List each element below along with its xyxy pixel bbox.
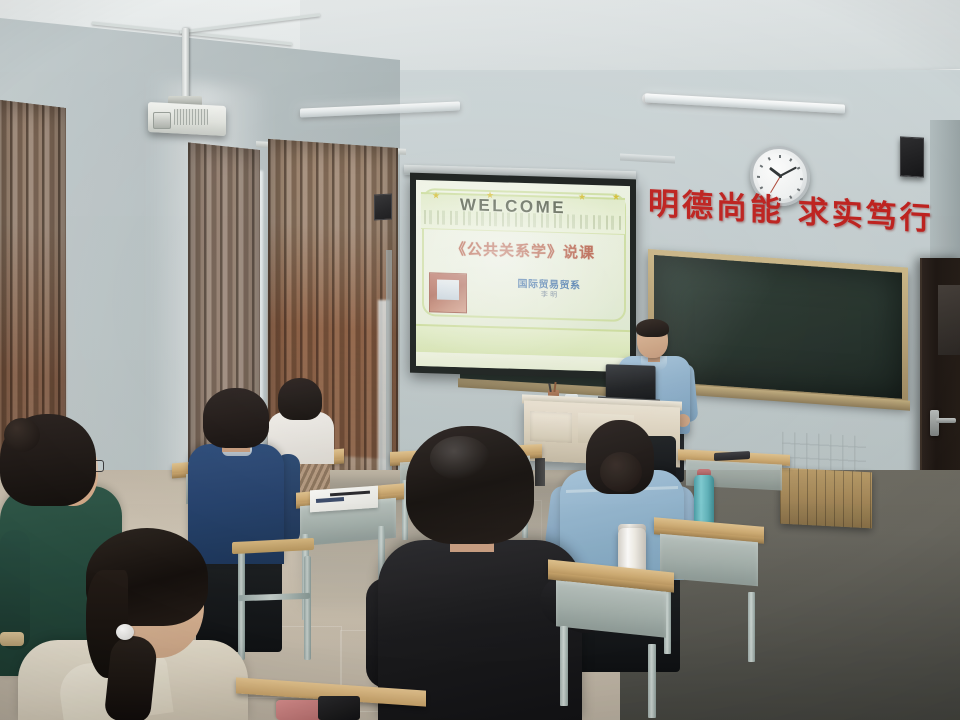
clock-minute-hand bbox=[780, 166, 797, 176]
student-denim-hair-bun bbox=[600, 452, 642, 492]
slide-image-placeholder bbox=[429, 272, 467, 313]
wall-speaker-left-icon bbox=[374, 194, 392, 221]
student-cream-ponytail bbox=[104, 634, 159, 720]
desk-body bbox=[660, 534, 758, 587]
classroom-photo: 明德尚能 求实笃行 ★ ★ ★ ★ WELCOME 《公共关系学》说课 国际贸易… bbox=[0, 0, 960, 720]
student-green-hair-bun bbox=[4, 418, 40, 452]
projector-lens-icon bbox=[153, 112, 171, 129]
chair-leg bbox=[238, 548, 245, 660]
hair-tie-icon bbox=[116, 624, 134, 640]
stacked-desks-texture bbox=[780, 468, 872, 529]
star-icon-far-right: ★ bbox=[612, 192, 620, 203]
student-green-cuff bbox=[0, 632, 24, 646]
desk-leg bbox=[748, 592, 755, 662]
door-handle-bar[interactable] bbox=[936, 418, 956, 423]
student-navy-hair bbox=[203, 388, 269, 448]
desk-leg bbox=[648, 644, 656, 718]
projector-vents bbox=[174, 109, 208, 125]
student-white-hair bbox=[278, 378, 322, 420]
podium-panel-left bbox=[530, 411, 572, 443]
slide-image-inner bbox=[437, 279, 459, 300]
desk-leg bbox=[560, 626, 568, 706]
podium-leg bbox=[535, 458, 545, 486]
student-black-hair-highlight bbox=[430, 436, 490, 480]
door-window bbox=[938, 285, 960, 355]
teacher-hair bbox=[636, 319, 669, 337]
projection-screen: ★ ★ ★ ★ WELCOME 《公共关系学》说课 国际贸易贸系 李 明 bbox=[416, 180, 630, 372]
phone-case[interactable] bbox=[318, 696, 360, 720]
wall-speaker bbox=[900, 136, 924, 177]
chair-leg bbox=[304, 556, 311, 660]
clock-center-pin bbox=[779, 174, 782, 177]
door-handle[interactable] bbox=[930, 410, 939, 436]
